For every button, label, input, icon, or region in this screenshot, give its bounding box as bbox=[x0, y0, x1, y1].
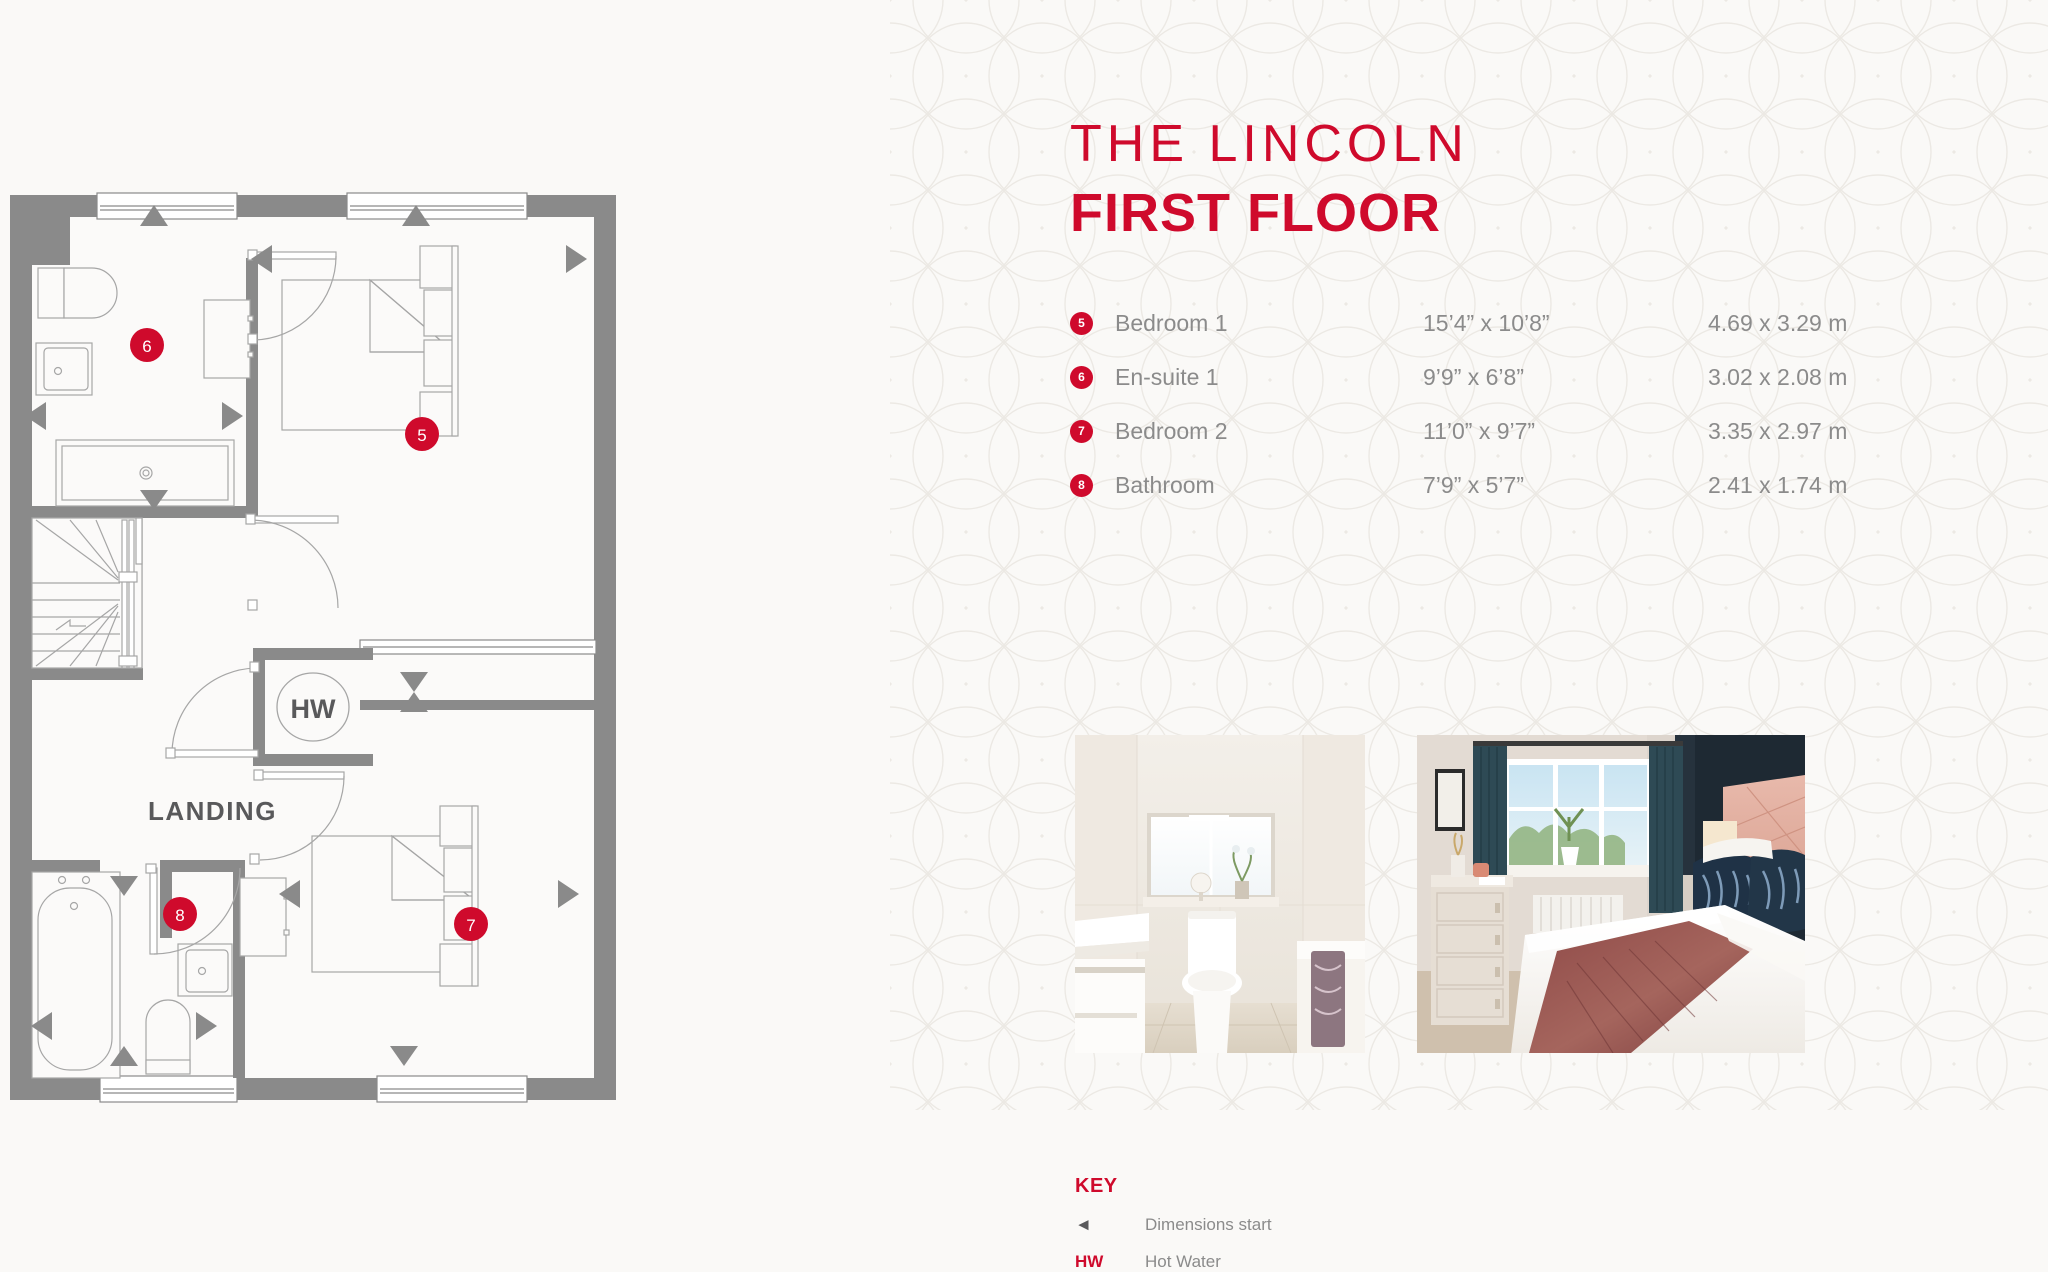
room-name: Bedroom 1 bbox=[1115, 310, 1423, 337]
key-row-hot-water: HW Hot Water bbox=[1075, 1251, 1272, 1272]
bath-bathroom bbox=[32, 872, 120, 1078]
window-interior-mid bbox=[360, 640, 596, 654]
staircase bbox=[32, 518, 142, 668]
room-metric: 3.02 x 2.08 m bbox=[1708, 364, 1847, 391]
svg-text:8: 8 bbox=[175, 906, 184, 925]
key-label: Hot Water bbox=[1145, 1252, 1221, 1272]
wardrobe-bedroom2 bbox=[240, 878, 289, 956]
table-row: 8 Bathroom 7’9” x 5’7” 2.41 x 1.74 m bbox=[1070, 458, 2048, 512]
marker-6: 6 bbox=[130, 328, 164, 362]
marker-5: 5 bbox=[405, 417, 439, 451]
svg-text:5: 5 bbox=[417, 426, 426, 445]
toilet-ensuite bbox=[38, 268, 117, 318]
basin-bathroom bbox=[178, 944, 232, 996]
marker-7: 7 bbox=[454, 907, 488, 941]
room-metric: 2.41 x 1.74 m bbox=[1708, 472, 1847, 499]
bathroom-photo bbox=[1075, 735, 1365, 1053]
room-dimensions-table: 5 Bedroom 1 15’4” x 10’8” 4.69 x 3.29 m … bbox=[1070, 296, 2048, 512]
room-badge-7: 7 bbox=[1070, 420, 1093, 443]
svg-text:HW: HW bbox=[291, 694, 336, 724]
room-badge-6: 6 bbox=[1070, 366, 1093, 389]
hot-water-icon: HW bbox=[1075, 1253, 1145, 1270]
table-row: 5 Bedroom 1 15’4” x 10’8” 4.69 x 3.29 m bbox=[1070, 296, 2048, 350]
window-top-left bbox=[97, 193, 237, 219]
toilet-bathroom bbox=[146, 1000, 190, 1074]
key-legend: KEY ◄ Dimensions start HW Hot Water bbox=[1075, 1175, 1272, 1272]
window-bottom-right bbox=[377, 1076, 527, 1102]
wardrobe-bedroom1 bbox=[204, 300, 253, 378]
room-imperial: 7’9” x 5’7” bbox=[1423, 472, 1708, 499]
key-row-dimensions: ◄ Dimensions start bbox=[1075, 1214, 1272, 1235]
room-name: En-suite 1 bbox=[1115, 364, 1423, 391]
room-metric: 4.69 x 3.29 m bbox=[1708, 310, 1847, 337]
dimension-start-icon: ◄ bbox=[1075, 1216, 1145, 1233]
page-title-line1: THE LINCOLN bbox=[1070, 0, 2048, 170]
bedroom-photo bbox=[1417, 735, 1805, 1053]
room-badge-8: 8 bbox=[1070, 474, 1093, 497]
key-label: Dimensions start bbox=[1145, 1215, 1272, 1235]
svg-text:6: 6 bbox=[142, 337, 151, 356]
room-imperial: 15’4” x 10’8” bbox=[1423, 310, 1708, 337]
window-bottom-left bbox=[100, 1076, 237, 1102]
key-title: KEY bbox=[1075, 1175, 1272, 1198]
room-badge-5: 5 bbox=[1070, 312, 1093, 335]
room-metric: 3.35 x 2.97 m bbox=[1708, 418, 1847, 445]
svg-text:LANDING: LANDING bbox=[148, 796, 277, 826]
basin-ensuite bbox=[36, 343, 92, 395]
room-imperial: 11’0” x 9’7” bbox=[1423, 418, 1708, 445]
page-title-line2: FIRST FLOOR bbox=[1070, 170, 2048, 240]
room-name: Bathroom bbox=[1115, 472, 1423, 499]
floorplan-drawing: HW LANDING bbox=[0, 0, 660, 1180]
marker-8: 8 bbox=[163, 897, 197, 931]
table-row: 7 Bedroom 2 11’0” x 9’7” 3.35 x 2.97 m bbox=[1070, 404, 2048, 458]
window-top-right bbox=[347, 193, 527, 219]
table-row: 6 En-suite 1 9’9” x 6’8” 3.02 x 2.08 m bbox=[1070, 350, 2048, 404]
room-name: Bedroom 2 bbox=[1115, 418, 1423, 445]
room-imperial: 9’9” x 6’8” bbox=[1423, 364, 1708, 391]
svg-text:7: 7 bbox=[466, 916, 475, 935]
